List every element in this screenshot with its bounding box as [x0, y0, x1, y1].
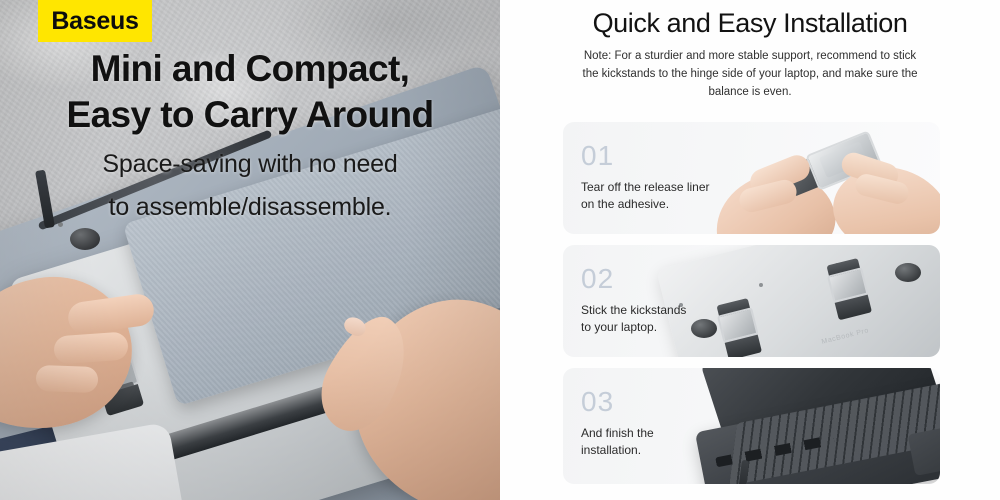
- step-card-02: MacBook Pro 02 Stick the kickstands to y…: [563, 245, 940, 357]
- left-copy-block: Mini and Compact, Easy to Carry Around S…: [0, 46, 500, 224]
- step-03-text: 03 And finish the installation.: [581, 388, 654, 460]
- laptop-foot: [895, 263, 921, 282]
- step-card-01: 01 Tear off the release liner on the adh…: [563, 122, 940, 234]
- installation-note: Note: For a sturdier and more stable sup…: [580, 48, 920, 101]
- left-photo-panel: Baseus Mini and Compact, Easy to Carry A…: [0, 0, 500, 500]
- laptop-foot: [691, 319, 717, 338]
- step-description-line-2: to your laptop.: [581, 319, 686, 336]
- step-description-line-1: And finish the: [581, 425, 654, 442]
- subheadline-line-1: Space-saving with no need: [0, 148, 500, 181]
- laptop-foot: [70, 228, 100, 250]
- step-01-text: 01 Tear off the release liner on the adh…: [581, 142, 710, 214]
- step-number: 01: [581, 142, 710, 170]
- laptop-underside: [656, 245, 940, 357]
- step-description: And finish the installation.: [581, 425, 654, 460]
- headline-line-1: Mini and Compact,: [0, 46, 500, 92]
- product-infographic: Baseus Mini and Compact, Easy to Carry A…: [0, 0, 1000, 500]
- step-card-03: 03 And finish the installation.: [563, 368, 940, 484]
- step-description: Tear off the release liner on the adhesi…: [581, 179, 710, 214]
- step-description-line-1: Stick the kickstands: [581, 302, 686, 319]
- subheadline-line-2: to assemble/disassemble.: [0, 191, 500, 224]
- steps-list: 01 Tear off the release liner on the adh…: [563, 122, 940, 484]
- step-number: 03: [581, 388, 654, 416]
- finger: [53, 331, 129, 364]
- step-description-line-2: installation.: [581, 442, 654, 459]
- finger: [36, 365, 99, 393]
- brand-name: Baseus: [51, 7, 138, 36]
- section-title: Quick and Easy Installation: [500, 0, 1000, 39]
- brand-badge: Baseus: [38, 0, 152, 42]
- right-instructions-panel: Quick and Easy Installation Note: For a …: [500, 0, 1000, 500]
- step-description-line-2: on the adhesive.: [581, 196, 710, 213]
- step-number: 02: [581, 265, 686, 293]
- step-02-text: 02 Stick the kickstands to your laptop.: [581, 265, 686, 337]
- step-description-line-1: Tear off the release liner: [581, 179, 710, 196]
- step-description: Stick the kickstands to your laptop.: [581, 302, 686, 337]
- headline-line-2: Easy to Carry Around: [0, 92, 500, 138]
- laptop-screw: [759, 283, 763, 287]
